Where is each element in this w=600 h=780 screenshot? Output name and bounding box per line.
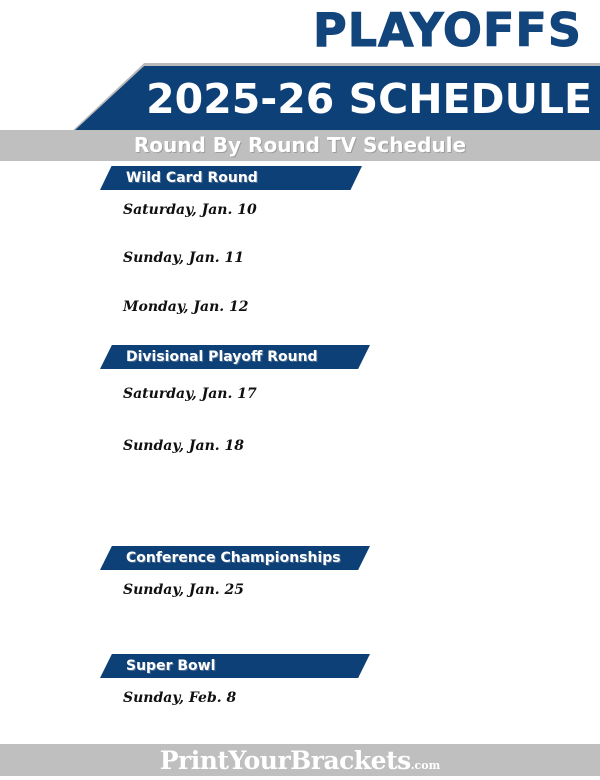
- game-date: Monday, Jan. 12: [123, 298, 249, 316]
- footer-brand: PrintYourBrackets.com: [0, 746, 600, 780]
- schedule-banner-fill: 2025-26 SCHEDULE: [73, 66, 600, 132]
- round-header-label: Conference Championships: [126, 549, 341, 567]
- schedule-banner-title: 2025-26 SCHEDULE: [73, 75, 592, 123]
- page-title: PLAYOFFS: [0, 4, 582, 56]
- footer-brand-tld: .com: [411, 759, 441, 772]
- game-date: Saturday, Jan. 10: [123, 201, 257, 219]
- round-header-wild-card: Wild Card Round: [100, 166, 362, 190]
- round-header-conference-championships: Conference Championships: [100, 546, 370, 570]
- footer-bar: PrintYourBrackets.com: [0, 744, 600, 776]
- game-date: Sunday, Jan. 25: [123, 581, 244, 599]
- round-header-label: Divisional Playoff Round: [126, 348, 318, 366]
- schedule-banner: 2025-26 SCHEDULE: [0, 63, 600, 133]
- footer-brand-name: PrintYourBrackets: [160, 746, 411, 775]
- game-date: Saturday, Jan. 17: [123, 385, 257, 403]
- round-header-divisional: Divisional Playoff Round: [100, 345, 370, 369]
- game-date: Sunday, Jan. 11: [123, 249, 244, 267]
- playoff-schedule-page: PLAYOFFS 2025-26 SCHEDULE Round By Round…: [0, 0, 600, 776]
- subtitle-bar: Round By Round TV Schedule: [0, 130, 600, 161]
- game-date: Sunday, Jan. 18: [123, 437, 244, 455]
- subtitle-text: Round By Round TV Schedule: [0, 133, 600, 158]
- round-header-label: Super Bowl: [126, 657, 215, 675]
- round-header-label: Wild Card Round: [126, 169, 258, 187]
- game-date: Sunday, Feb. 8: [123, 689, 236, 707]
- round-header-super-bowl: Super Bowl: [100, 654, 370, 678]
